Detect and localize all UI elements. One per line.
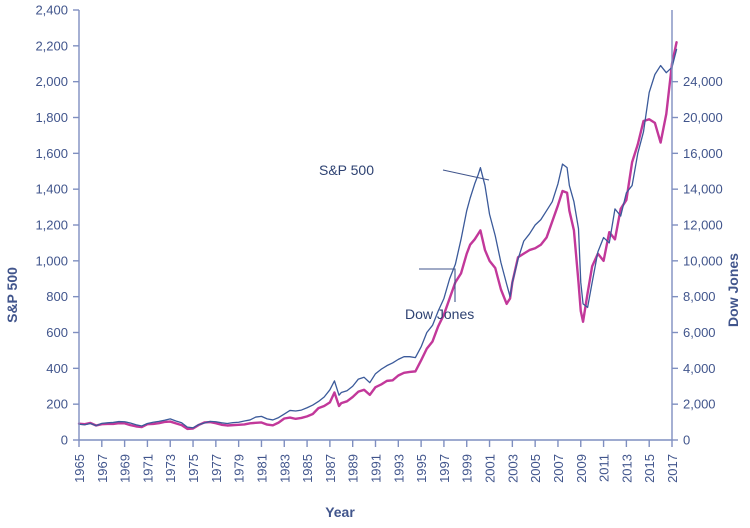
left-axis-tick-label: 2,000	[35, 74, 68, 89]
right-axis-tick-label: 8,000	[683, 289, 716, 304]
right-axis-tick-label: 16,000	[683, 146, 723, 161]
bottom-axis-tick-label: 1981	[254, 454, 269, 483]
right-axis-tick-label: 20,000	[683, 110, 723, 125]
bottom-axis-tick-label: 2003	[505, 454, 520, 483]
right-axis-tick-label: 14,000	[683, 182, 723, 197]
bottom-axis-tick-label: 1979	[232, 454, 247, 483]
left-axis-tick-label: 0	[61, 433, 68, 448]
right-axis-tick-label: 0	[683, 433, 690, 448]
bottom-axis-tick-label: 2017	[665, 454, 680, 483]
dual-axis-line-chart: 02004006008001,0001,2001,4001,6001,8002,…	[0, 0, 750, 528]
bottom-axis-tick-label: 2015	[642, 454, 657, 483]
sp500-annotation-label: S&P 500	[319, 162, 374, 178]
sp500-line	[79, 49, 677, 427]
left-axis-tick-label: 600	[46, 325, 68, 340]
annotation-layer: S&P 500 Dow Jones	[319, 162, 489, 322]
left-axis: 02004006008001,0001,2001,4001,6001,8002,…	[35, 3, 79, 448]
bottom-axis-tick-label: 2013	[619, 454, 634, 483]
right-axis-tick-label: 24,000	[683, 74, 723, 89]
bottom-axis-tick-label: 1969	[118, 454, 133, 483]
bottom-axis: 1965196719691971197319751977197919811983…	[72, 440, 680, 483]
bottom-axis-tick-label: 1965	[72, 454, 87, 483]
bottom-axis-tick-label: 1971	[140, 454, 155, 483]
left-axis-tick-label: 1,200	[35, 218, 68, 233]
bottom-axis-tick-label: 2011	[597, 454, 612, 482]
right-axis-title: Dow Jones	[725, 253, 741, 327]
bottom-axis-tick-label: 1973	[163, 454, 178, 483]
bottom-axis-tick-label: 1995	[414, 454, 429, 483]
bottom-axis-tick-label: 1967	[95, 454, 110, 483]
bottom-axis-tick-label: 1975	[186, 454, 201, 483]
bottom-axis-tick-label: 1999	[460, 454, 475, 483]
chart-root: 02004006008001,0001,2001,4001,6001,8002,…	[0, 0, 750, 528]
bottom-axis-tick-label: 1997	[437, 454, 452, 483]
right-axis-tick-label: 12,000	[683, 218, 723, 233]
bottom-axis-tick-label: 1977	[209, 454, 224, 483]
left-axis-tick-label: 800	[46, 289, 68, 304]
plot-series-layer	[79, 42, 677, 429]
left-axis-tick-label: 2,400	[35, 3, 68, 18]
right-axis-tick-label: 6,000	[683, 325, 716, 340]
right-axis-tick-label: 2,000	[683, 397, 716, 412]
left-axis-tick-label: 1,400	[35, 182, 68, 197]
bottom-axis-tick-label: 1991	[369, 454, 384, 483]
bottom-axis-tick-label: 2007	[551, 454, 566, 483]
bottom-axis-tick-label: 1987	[323, 454, 338, 483]
left-axis-tick-label: 1,600	[35, 146, 68, 161]
bottom-axis-tick-label: 1983	[277, 454, 292, 483]
bottom-axis-tick-label: 1989	[346, 454, 361, 483]
left-axis-tick-label: 200	[46, 397, 68, 412]
dow-jones-line	[79, 42, 677, 429]
bottom-axis-tick-label: 2009	[574, 454, 589, 483]
left-axis-tick-label: 400	[46, 361, 68, 376]
right-axis-tick-label: 4,000	[683, 361, 716, 376]
bottom-axis-tick-label: 2005	[528, 454, 543, 483]
right-axis-tick-label: 10,000	[683, 253, 723, 268]
dow-jones-annotation-label: Dow Jones	[405, 306, 474, 322]
bottom-axis-tick-label: 2001	[483, 454, 498, 483]
left-axis-tick-label: 1,000	[35, 253, 68, 268]
bottom-axis-tick-label: 1985	[300, 454, 315, 483]
left-axis-title: S&P 500	[4, 267, 20, 323]
bottom-axis-title: Year	[325, 504, 355, 520]
right-axis: 02,0004,0006,0008,00010,00012,00014,0001…	[672, 10, 723, 448]
left-axis-tick-label: 1,800	[35, 110, 68, 125]
left-axis-tick-label: 2,200	[35, 38, 68, 53]
bottom-axis-tick-label: 1993	[391, 454, 406, 483]
